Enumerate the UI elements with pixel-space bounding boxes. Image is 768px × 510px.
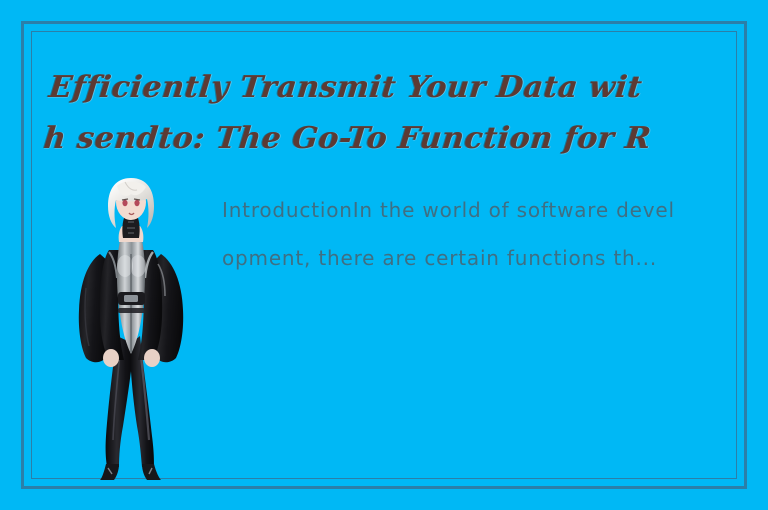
right-hand bbox=[144, 349, 160, 367]
article-excerpt: IntroductionIn the world of software dev… bbox=[222, 186, 684, 282]
article-card: Efficiently Transmit Your Data wit h sen… bbox=[0, 0, 768, 510]
right-boot bbox=[142, 464, 161, 480]
left-eye bbox=[122, 200, 127, 206]
right-eye bbox=[134, 200, 139, 206]
left-boot bbox=[100, 464, 119, 480]
article-title: Efficiently Transmit Your Data wit h sen… bbox=[41, 62, 672, 164]
left-hand bbox=[103, 349, 119, 367]
character-illustration bbox=[62, 168, 204, 480]
